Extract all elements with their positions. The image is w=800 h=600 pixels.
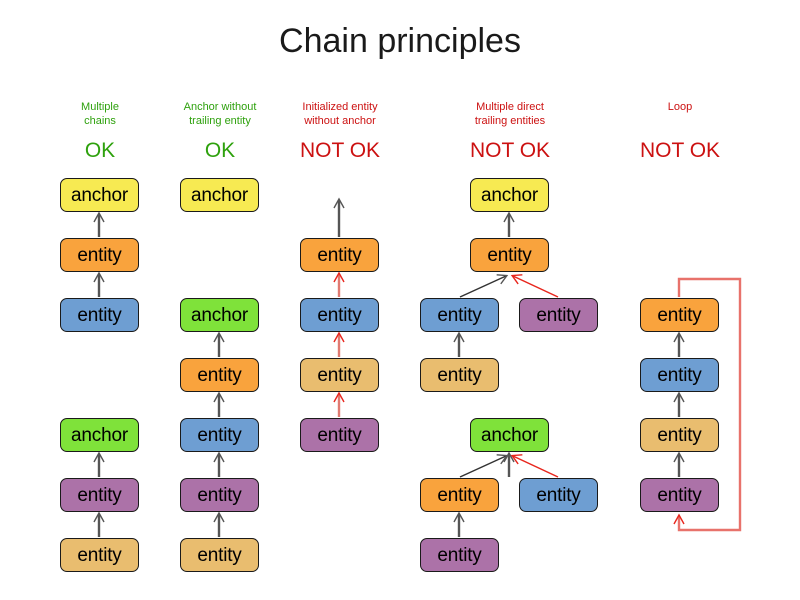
node-anchor[interactable]: anchor bbox=[60, 418, 139, 452]
column-heading-anchor-without-trailing-entity: Anchor without trailing entity bbox=[160, 100, 280, 128]
node-anchor[interactable]: anchor bbox=[180, 298, 259, 332]
verdict-anchor-without-trailing-entity: OK bbox=[160, 139, 280, 163]
node-entity[interactable]: entity bbox=[640, 298, 719, 332]
node-entity[interactable]: entity bbox=[420, 478, 499, 512]
node-entity[interactable]: entity bbox=[300, 358, 379, 392]
node-entity[interactable]: entity bbox=[180, 418, 259, 452]
node-anchor[interactable]: anchor bbox=[470, 418, 549, 452]
node-entity[interactable]: entity bbox=[60, 478, 139, 512]
diagram-canvas: Chain principles Multiple chains OK Anch… bbox=[0, 0, 800, 600]
node-entity[interactable]: entity bbox=[180, 358, 259, 392]
verdict-multiple-direct-trailing-entities: NOT OK bbox=[450, 139, 570, 163]
node-entity[interactable]: entity bbox=[519, 298, 598, 332]
node-entity[interactable]: entity bbox=[300, 298, 379, 332]
column-heading-line1: Loop bbox=[668, 101, 692, 113]
node-anchor[interactable]: anchor bbox=[470, 178, 549, 212]
column-heading-line2: chains bbox=[40, 114, 160, 128]
column-heading-initialized-entity-without-anchor: Initialized entity without anchor bbox=[280, 100, 400, 128]
column-heading-line2: without anchor bbox=[280, 114, 400, 128]
node-entity[interactable]: entity bbox=[60, 238, 139, 272]
node-entity[interactable]: entity bbox=[420, 538, 499, 572]
node-entity[interactable]: entity bbox=[640, 478, 719, 512]
node-anchor[interactable]: anchor bbox=[60, 178, 139, 212]
verdict-loop: NOT OK bbox=[620, 139, 740, 163]
column-heading-line1: Anchor without bbox=[184, 101, 257, 113]
column-heading-multiple-chains: Multiple chains bbox=[40, 100, 160, 128]
node-entity[interactable]: entity bbox=[300, 418, 379, 452]
node-entity[interactable]: entity bbox=[420, 298, 499, 332]
node-entity[interactable]: entity bbox=[60, 298, 139, 332]
node-entity[interactable]: entity bbox=[519, 478, 598, 512]
column-heading-line1: Multiple direct bbox=[476, 101, 544, 113]
column-heading-loop: Loop bbox=[620, 100, 740, 114]
node-entity[interactable]: entity bbox=[180, 478, 259, 512]
column-heading-line1: Initialized entity bbox=[302, 101, 377, 113]
verdict-initialized-entity-without-anchor: NOT OK bbox=[280, 139, 400, 163]
column-heading-multiple-direct-trailing-entities: Multiple direct trailing entities bbox=[450, 100, 570, 128]
column-heading-line2: trailing entity bbox=[160, 114, 280, 128]
node-entity[interactable]: entity bbox=[640, 418, 719, 452]
node-entity[interactable]: entity bbox=[470, 238, 549, 272]
node-entity[interactable]: entity bbox=[180, 538, 259, 572]
column-heading-line2: trailing entities bbox=[450, 114, 570, 128]
node-anchor[interactable]: anchor bbox=[180, 178, 259, 212]
verdict-multiple-chains: OK bbox=[40, 139, 160, 163]
column-heading-line1: Multiple bbox=[81, 101, 119, 113]
page-title: Chain principles bbox=[0, 22, 800, 61]
node-entity[interactable]: entity bbox=[60, 538, 139, 572]
node-entity[interactable]: entity bbox=[420, 358, 499, 392]
node-entity[interactable]: entity bbox=[640, 358, 719, 392]
node-entity[interactable]: entity bbox=[300, 238, 379, 272]
